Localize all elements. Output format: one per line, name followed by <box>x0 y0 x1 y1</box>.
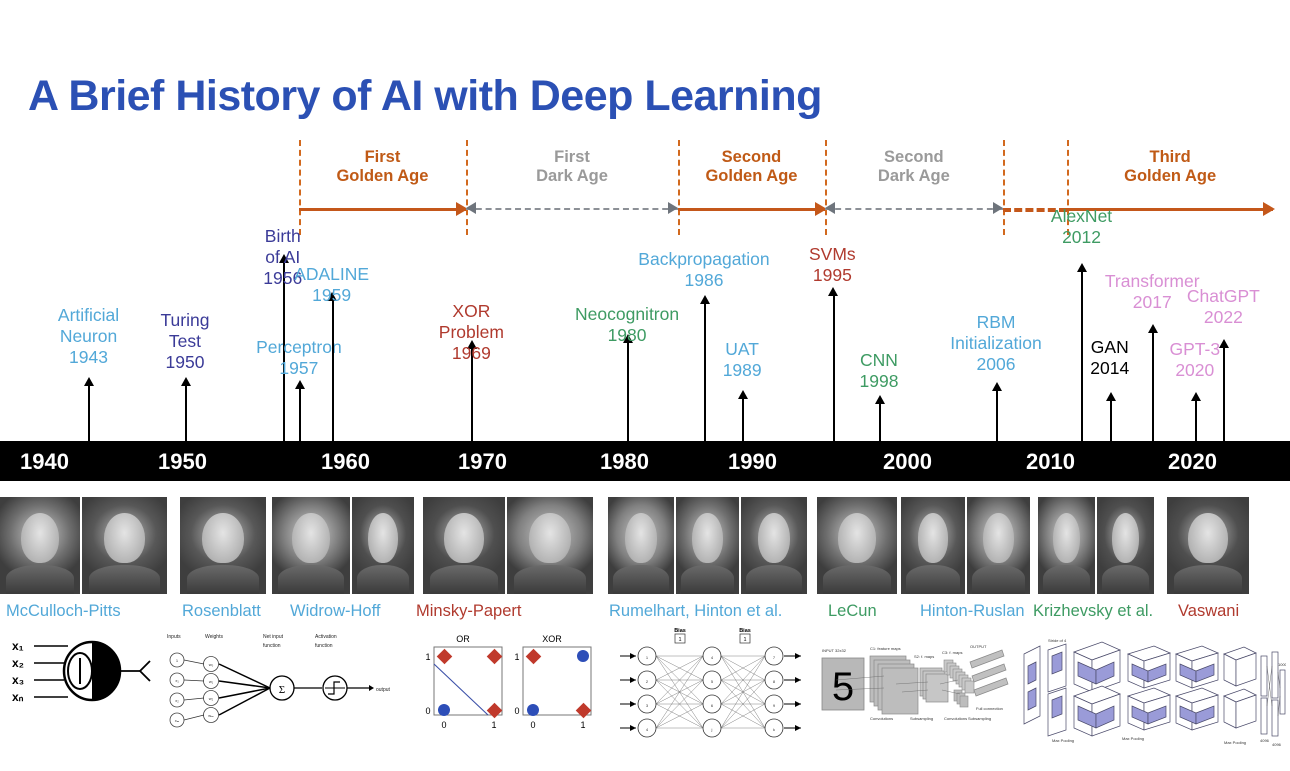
svg-text:INPUT 32x32: INPUT 32x32 <box>822 648 847 653</box>
svg-text:1: 1 <box>425 652 430 662</box>
svg-text:function: function <box>263 643 281 649</box>
svg-text:w₀: w₀ <box>209 662 214 667</box>
svg-text:Convolutions: Convolutions <box>870 716 893 721</box>
or-xor-scatter-plots: OR 1 0 0 1 XOR 1 0 0 1 <box>418 630 608 755</box>
svg-text:xₙ: xₙ <box>12 690 24 704</box>
svg-text:4096: 4096 <box>1272 742 1282 747</box>
svg-text:x₂: x₂ <box>12 656 24 670</box>
portrait-caption-vaswani: Vaswani <box>1178 602 1239 621</box>
svg-text:k: k <box>773 727 775 732</box>
portrait-caption-minsky-papert: Minsky-Papert <box>416 602 521 621</box>
perceptron-diagram: InputsWeights Net inputfunction Activati… <box>163 626 413 746</box>
svg-text:Convolutions: Convolutions <box>944 716 967 721</box>
lenet-cnn-diagram: 5 INPUT 32x32 <box>818 632 1010 752</box>
svg-text:function: function <box>315 643 333 649</box>
mlp-backprop-diagram: 1234 456j 789k 1 Bias <box>612 628 812 753</box>
svg-text:5: 5 <box>832 665 854 709</box>
svg-text:OR: OR <box>456 634 470 644</box>
svg-text:Max Pooling: Max Pooling <box>1224 740 1246 745</box>
svg-text:Net input: Net input <box>263 634 284 640</box>
svg-text:0: 0 <box>441 720 446 730</box>
svg-text:1: 1 <box>678 637 681 643</box>
svg-text:x₁: x₁ <box>12 639 24 653</box>
svg-text:0: 0 <box>530 720 535 730</box>
svg-text:xₘ: xₘ <box>175 718 180 723</box>
svg-text:Full connection: Full connection <box>976 706 1003 711</box>
svg-text:1000: 1000 <box>1278 662 1286 667</box>
svg-text:C1: feature maps: C1: feature maps <box>870 646 901 651</box>
svg-text:Inputs: Inputs <box>167 634 181 640</box>
svg-text:Bias: Bias <box>674 628 686 634</box>
svg-text:OUTPUT: OUTPUT <box>970 644 987 649</box>
svg-text:Σ: Σ <box>279 684 285 696</box>
svg-text:Subsampling: Subsampling <box>968 716 991 721</box>
svg-text:w₁: w₁ <box>209 679 214 684</box>
svg-text:Subsampling: Subsampling <box>910 716 933 721</box>
svg-text:1: 1 <box>491 720 496 730</box>
svg-text:Stride of 4: Stride of 4 <box>1048 638 1067 643</box>
svg-text:w₂: w₂ <box>209 696 214 701</box>
svg-text:Max Pooling: Max Pooling <box>1122 736 1144 741</box>
svg-text:j: j <box>711 727 713 732</box>
svg-text:x₃: x₃ <box>12 673 24 687</box>
svg-text:0: 0 <box>514 706 519 716</box>
svg-text:Bias: Bias <box>739 628 751 634</box>
svg-text:S2: f. maps: S2: f. maps <box>914 654 934 659</box>
svg-text:1: 1 <box>580 720 585 730</box>
svg-text:4096: 4096 <box>1260 738 1270 743</box>
portrait-caption-krizhevsky-et-al: Krizhevsky et al. <box>1033 602 1153 621</box>
alexnet-diagram: Stride of 4Max Pooling Max PoolingMax Po… <box>1018 636 1286 752</box>
portrait-caption-hinton-ruslan: Hinton-Ruslan <box>920 602 1025 621</box>
mcculloch-pitts-neuron-diagram: x₁ x₂ x₃ xₙ <box>6 630 156 725</box>
svg-text:Activation: Activation <box>315 634 337 640</box>
svg-text:XOR: XOR <box>542 634 562 644</box>
svg-text:1: 1 <box>514 652 519 662</box>
portrait-caption-rumelhart-hinton-et-al: Rumelhart, Hinton et al. <box>609 602 782 621</box>
svg-text:wₘ: wₘ <box>208 713 214 718</box>
diagram-strip: x₁ x₂ x₃ xₙ InputsWeights Net inputfunct… <box>0 622 1290 771</box>
portrait-caption-mcculloch-pitts: McCulloch-Pitts <box>6 602 121 621</box>
portrait-caption-rosenblatt: Rosenblatt <box>182 602 261 621</box>
svg-text:Weights: Weights <box>205 634 223 640</box>
svg-text:C3: f. maps: C3: f. maps <box>942 650 962 655</box>
svg-text:0: 0 <box>425 706 430 716</box>
svg-text:Max Pooling: Max Pooling <box>1052 738 1074 743</box>
portrait-caption-lecun: LeCun <box>828 602 877 621</box>
svg-text:x₂: x₂ <box>175 698 179 703</box>
svg-text:1: 1 <box>743 637 746 643</box>
svg-text:output: output <box>376 687 391 693</box>
portrait-caption-widrow-hoff: Widrow-Hoff <box>290 602 380 621</box>
